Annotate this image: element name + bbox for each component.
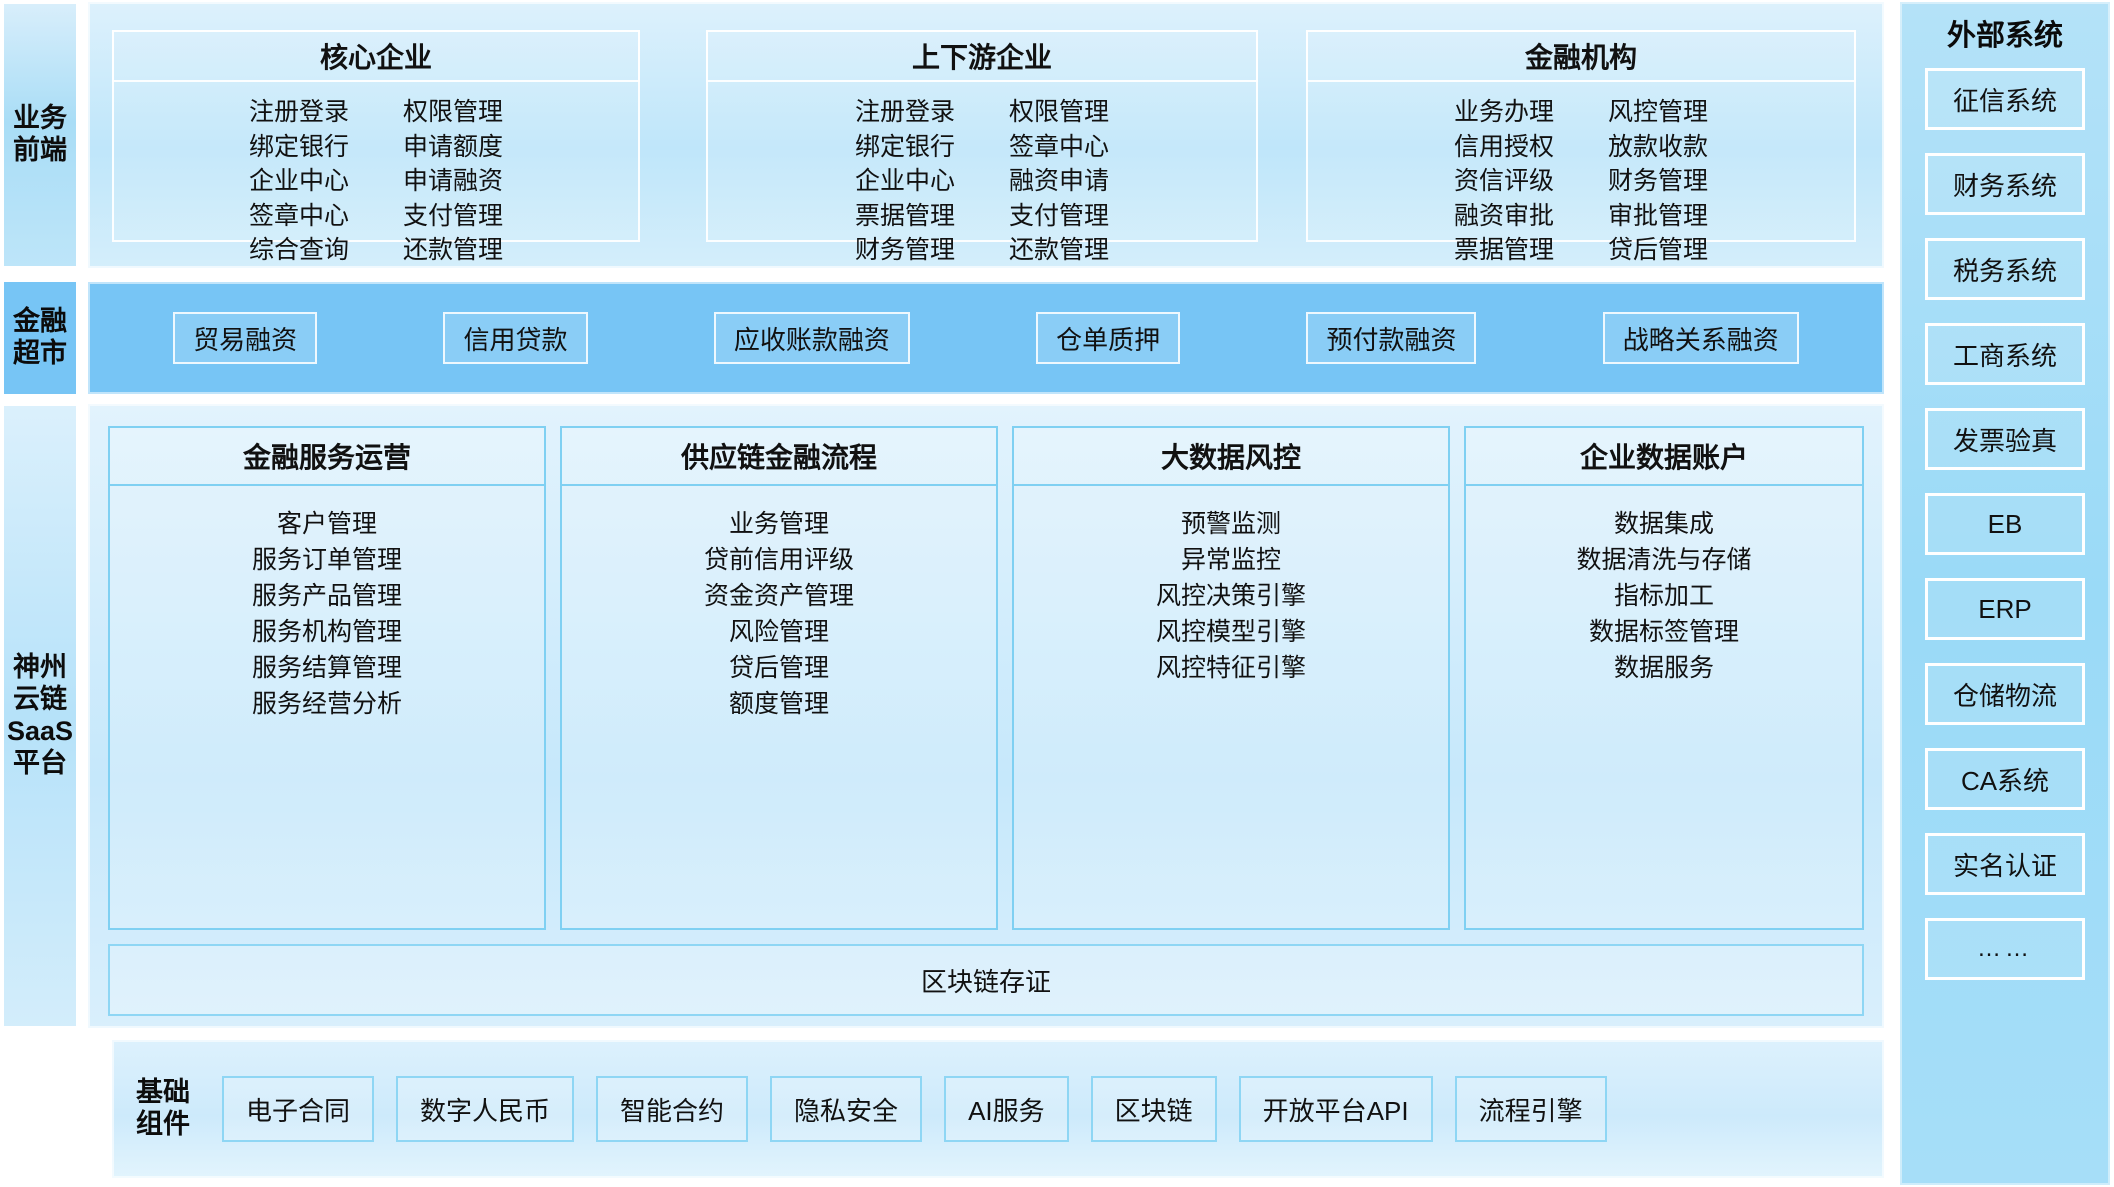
front-item: 还款管理 [1009,234,1109,267]
saas-item: 风险管理 [729,616,829,649]
saas-item: 额度管理 [729,688,829,721]
front-item: 票据管理 [1454,234,1554,267]
front-card-upstream-downstream[interactable]: 上下游企业 注册登录 绑定银行 企业中心 票据管理 财务管理 权限管理 签章中心… [706,30,1258,242]
external-system-chip[interactable]: 实名认证 [1925,833,2085,895]
saas-card-title: 企业数据账户 [1466,428,1862,486]
financial-product-chip[interactable]: 应收账款融资 [714,312,910,364]
saas-item: 风控决策引擎 [1156,580,1306,613]
saas-card-items: 预警监测 异常监控 风控决策引擎 风控模型引擎 风控特征引擎 [1014,486,1448,685]
external-system-chip[interactable]: CA系统 [1925,748,2085,810]
saas-item: 服务机构管理 [252,616,402,649]
front-card-column-right: 风控管理 放款收款 财务管理 审批管理 贷后管理 [1608,96,1708,267]
base-component-chip[interactable]: 电子合同 [222,1076,374,1142]
saas-item: 预警监测 [1181,508,1281,541]
front-card-title: 核心企业 [112,30,640,82]
base-component-chip[interactable]: 数字人民币 [396,1076,574,1142]
saas-card-supply-chain-finance-process[interactable]: 供应链金融流程 业务管理 贷前信用评级 资金资产管理 风险管理 贷后管理 额度管… [560,426,998,930]
saas-card-title: 供应链金融流程 [562,428,996,486]
front-item: 绑定银行 [249,131,349,164]
external-system-more-chip[interactable]: …… [1925,918,2085,980]
saas-item: 服务经营分析 [252,688,402,721]
saas-item: 指标加工 [1614,580,1714,613]
front-item: 支付管理 [403,200,503,233]
saas-item: 异常监控 [1181,544,1281,577]
saas-card-title: 大数据风控 [1014,428,1448,486]
band-label-business-frontend: 业务 前端 [4,4,76,266]
saas-item: 客户管理 [277,508,377,541]
front-item: 审批管理 [1608,200,1708,233]
architecture-diagram: 业务 前端 核心企业 注册登录 绑定银行 企业中心 签章中心 综合查询 权限管理… [0,0,2114,1187]
band-label-financial-supermarket: 金融 超市 [4,282,76,394]
front-item: 签章中心 [249,200,349,233]
front-item: 信用授权 [1454,131,1554,164]
financial-product-chip[interactable]: 贸易融资 [173,312,317,364]
band-label-base-components: 基础 组件 [126,1064,200,1154]
blockchain-evidence-bar[interactable]: 区块链存证 [108,944,1864,1016]
front-item: 权限管理 [403,96,503,129]
business-frontend-panel: 核心企业 注册登录 绑定银行 企业中心 签章中心 综合查询 权限管理 申请额度 … [88,2,1884,268]
saas-item: 数据标签管理 [1589,616,1739,649]
front-item: 权限管理 [1009,96,1109,129]
base-components-panel: 基础 组件 电子合同 数字人民币 智能合约 隐私安全 AI服务 区块链 开放平台… [112,1040,1884,1178]
base-component-chip[interactable]: 智能合约 [596,1076,748,1142]
base-component-chip[interactable]: AI服务 [944,1076,1069,1142]
saas-item: 资金资产管理 [704,580,854,613]
external-system-chip[interactable]: EB [1925,493,2085,555]
saas-card-items: 数据集成 数据清洗与存储 指标加工 数据标签管理 数据服务 [1466,486,1862,685]
band-label-saas-platform: 神州 云链 SaaS 平台 [4,406,76,1026]
front-card-column-right: 权限管理 签章中心 融资申请 支付管理 还款管理 [1009,96,1109,267]
saas-item: 服务订单管理 [252,544,402,577]
saas-item: 贷后管理 [729,652,829,685]
base-component-chip[interactable]: 流程引擎 [1455,1076,1607,1142]
front-item: 申请额度 [403,131,503,164]
front-item: 支付管理 [1009,200,1109,233]
saas-card-items: 业务管理 贷前信用评级 资金资产管理 风险管理 贷后管理 额度管理 [562,486,996,721]
saas-item: 数据服务 [1614,652,1714,685]
saas-item: 贷前信用评级 [704,544,854,577]
external-systems-panel: 外部系统 征信系统 财务系统 税务系统 工商系统 发票验真 EB ERP 仓储物… [1900,2,2110,1185]
external-system-chip[interactable]: 财务系统 [1925,153,2085,215]
saas-item: 业务管理 [729,508,829,541]
saas-platform-panel: 金融服务运营 客户管理 服务订单管理 服务产品管理 服务机构管理 服务结算管理 … [88,404,1884,1028]
base-component-chip[interactable]: 区块链 [1091,1076,1217,1142]
external-system-chip[interactable]: 工商系统 [1925,323,2085,385]
saas-card-enterprise-data-account[interactable]: 企业数据账户 数据集成 数据清洗与存储 指标加工 数据标签管理 数据服务 [1464,426,1864,930]
front-item: 签章中心 [1009,131,1109,164]
front-item: 业务办理 [1454,96,1554,129]
front-item: 注册登录 [249,96,349,129]
external-system-chip[interactable]: 发票验真 [1925,408,2085,470]
front-item: 票据管理 [855,200,955,233]
saas-item: 服务产品管理 [252,580,402,613]
front-item: 放款收款 [1608,131,1708,164]
front-card-title: 上下游企业 [706,30,1258,82]
external-system-chip[interactable]: 征信系统 [1925,68,2085,130]
external-system-chip[interactable]: 税务系统 [1925,238,2085,300]
front-card-column-right: 权限管理 申请额度 申请融资 支付管理 还款管理 [403,96,503,267]
financial-supermarket-panel: 贸易融资 信用贷款 应收账款融资 仓单质押 预付款融资 战略关系融资 [88,282,1884,394]
financial-product-chip[interactable]: 信用贷款 [443,312,587,364]
front-card-title: 金融机构 [1306,30,1856,82]
saas-item: 数据集成 [1614,508,1714,541]
saas-item: 服务结算管理 [252,652,402,685]
financial-product-chip[interactable]: 战略关系融资 [1603,312,1799,364]
front-item: 融资审批 [1454,200,1554,233]
saas-card-items: 客户管理 服务订单管理 服务产品管理 服务机构管理 服务结算管理 服务经营分析 [110,486,544,721]
financial-product-chip[interactable]: 仓单质押 [1036,312,1180,364]
saas-card-big-data-risk-control[interactable]: 大数据风控 预警监测 异常监控 风控决策引擎 风控模型引擎 风控特征引擎 [1012,426,1450,930]
front-card-financial-institution[interactable]: 金融机构 业务办理 信用授权 资信评级 融资审批 票据管理 风控管理 放款收款 … [1306,30,1856,242]
front-item: 绑定银行 [855,131,955,164]
saas-item: 风控特征引擎 [1156,652,1306,685]
front-item: 企业中心 [249,165,349,198]
front-card-column-left: 注册登录 绑定银行 企业中心 票据管理 财务管理 [855,96,955,267]
front-item: 风控管理 [1608,96,1708,129]
front-item: 申请融资 [403,165,503,198]
external-systems-title: 外部系统 [1947,12,2063,54]
front-item: 融资申请 [1009,165,1109,198]
front-item: 注册登录 [855,96,955,129]
front-item: 还款管理 [403,234,503,267]
financial-product-chip[interactable]: 预付款融资 [1306,312,1476,364]
front-item: 贷后管理 [1608,234,1708,267]
base-component-chip[interactable]: 开放平台API [1239,1076,1433,1142]
front-item: 财务管理 [855,234,955,267]
saas-item: 数据清洗与存储 [1576,544,1751,577]
front-item: 企业中心 [855,165,955,198]
front-item: 资信评级 [1454,165,1554,198]
saas-card-financial-service-operation[interactable]: 金融服务运营 客户管理 服务订单管理 服务产品管理 服务机构管理 服务结算管理 … [108,426,546,930]
front-card-core-enterprise[interactable]: 核心企业 注册登录 绑定银行 企业中心 签章中心 综合查询 权限管理 申请额度 … [112,30,640,242]
external-system-chip[interactable]: ERP [1925,578,2085,640]
base-component-chip[interactable]: 隐私安全 [770,1076,922,1142]
front-card-column-left: 业务办理 信用授权 资信评级 融资审批 票据管理 [1454,96,1554,267]
front-item: 财务管理 [1608,165,1708,198]
external-system-chip[interactable]: 仓储物流 [1925,663,2085,725]
saas-item: 风控模型引擎 [1156,616,1306,649]
front-item: 综合查询 [249,234,349,267]
saas-card-title: 金融服务运营 [110,428,544,486]
front-card-column-left: 注册登录 绑定银行 企业中心 签章中心 综合查询 [249,96,349,267]
